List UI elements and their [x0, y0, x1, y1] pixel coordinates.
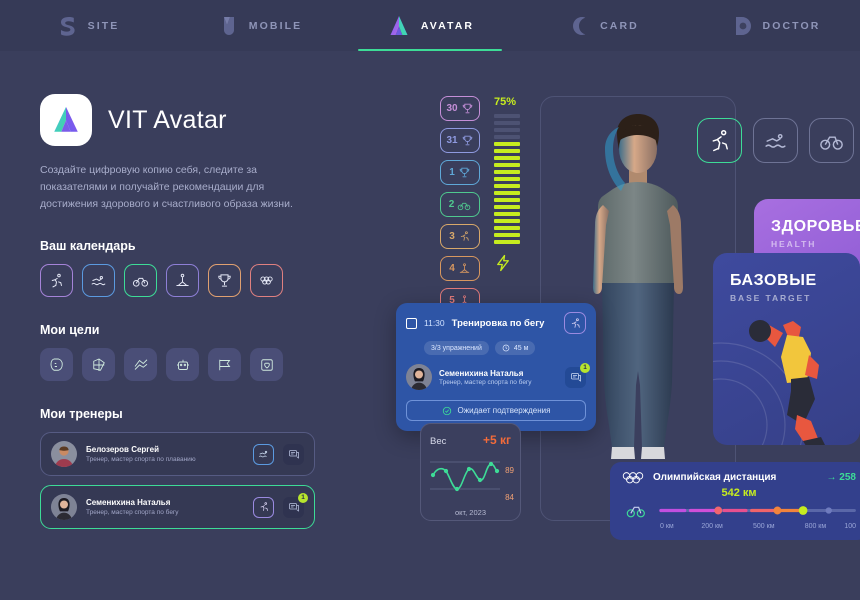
progress-bar-segment: [494, 170, 520, 174]
goal-chip-face[interactable]: [40, 348, 73, 381]
olympic-title: Олимпийская дистанция: [653, 472, 776, 483]
weight-low-value: 84: [505, 493, 514, 502]
message-badge: 1: [298, 493, 308, 503]
check-circle-icon: [442, 406, 452, 416]
popup-trainer-role: Тренер, мастер спорта по бегу: [439, 379, 532, 386]
cycling-icon: [622, 500, 650, 520]
progress-bar-segment: [494, 121, 520, 125]
trainer-info: Белозеров Сергей Тренер, мастер спорта п…: [86, 445, 244, 463]
yoga-icon: [458, 262, 471, 275]
trainers-section-title: Мои тренеры: [40, 407, 315, 421]
progress-bar-segment: [494, 226, 520, 230]
training-popup: 11:30 Тренировка по бегу 3/3 упражнений …: [396, 303, 596, 431]
date-badge[interactable]: 4: [440, 256, 480, 281]
weight-high-value: 89: [505, 466, 514, 475]
swimming-icon: [258, 448, 270, 460]
progress-bar-segment: [494, 240, 520, 244]
left-panel: VIT Avatar Создайте цифровую копию себя,…: [40, 94, 315, 529]
weight-delta: +5 кг: [483, 433, 511, 447]
training-sport-button[interactable]: [564, 312, 586, 334]
goals-icon-row: [40, 348, 315, 381]
weight-card[interactable]: Вес +5 кг 89 84 окт, 2023: [420, 423, 521, 521]
progress-percent: 75%: [494, 96, 528, 108]
olympics-icon: [258, 272, 275, 289]
olympic-more-link[interactable]: → 258: [827, 472, 856, 483]
date-badge[interactable]: 2: [440, 192, 480, 217]
progress-bar-segment: [494, 114, 520, 118]
progress-bar-segment: [494, 128, 520, 132]
progress-bar-segment: [494, 212, 520, 216]
olympic-distance-value: 542 км: [622, 487, 856, 499]
brand-description: Создайте цифровую копию себя, следите за…: [40, 162, 298, 213]
trainer-message-button[interactable]: 1: [283, 497, 304, 518]
trophy-icon: [461, 134, 474, 147]
yoga-icon: [174, 272, 191, 289]
mobile-logo-icon: [214, 13, 240, 39]
goal-robot-icon: [174, 356, 192, 374]
base-target-card[interactable]: БАЗОВЫЕ BASE TARGET: [713, 253, 860, 445]
message-icon: [570, 371, 582, 383]
trophy-icon: [461, 102, 474, 115]
avatar: [51, 441, 77, 467]
avatar-logo-icon: [386, 13, 412, 39]
progress-bar-segment: [494, 219, 520, 223]
goal-chip-heart[interactable]: [250, 348, 283, 381]
olympic-tick: 800 км: [805, 523, 845, 530]
nav-tab-doctor[interactable]: DOCTOR: [688, 0, 860, 51]
progress-bar-segment: [494, 163, 520, 167]
tag-exercises: 3/3 упражнений: [424, 341, 489, 355]
progress-bar-segment: [494, 184, 520, 188]
goals-section-title: Мои цели: [40, 323, 315, 337]
date-badge[interactable]: 31: [440, 128, 480, 153]
date-number: 2: [449, 199, 455, 210]
calendar-chip-olympics[interactable]: [250, 264, 283, 297]
calendar-section-title: Ваш календарь: [40, 239, 315, 253]
date-number: 1: [449, 167, 455, 178]
progress-bar-segment: [494, 191, 520, 195]
nav-tab-site[interactable]: SITE: [0, 0, 172, 51]
app-root: SITE MOBILE: [0, 0, 860, 600]
message-icon: [288, 501, 300, 513]
olympic-distance-card[interactable]: Олимпийская дистанция → 258 542 км 0: [610, 462, 860, 540]
popup-header: 11:30 Тренировка по бегу: [406, 312, 586, 334]
trainer-message-button[interactable]: [283, 444, 304, 465]
lightning-bolt-icon: [494, 252, 512, 274]
health-card-title: ЗДОРОВЬЕ: [771, 218, 860, 236]
calendar-chip-swimming[interactable]: [82, 264, 115, 297]
date-number: 30: [446, 103, 457, 114]
nav-tab-card-label: CARD: [600, 20, 639, 32]
calendar-chip-cycling[interactable]: [124, 264, 157, 297]
date-number: 4: [449, 263, 455, 274]
olympic-tick: 200 км: [701, 523, 753, 530]
progress-meter: 75%: [494, 96, 528, 279]
calendar-chip-running[interactable]: [40, 264, 73, 297]
goal-chip-activity[interactable]: [124, 348, 157, 381]
trainer-sport-button[interactable]: [253, 444, 274, 465]
trainer-name: Семенихина Наталья: [86, 498, 244, 507]
running-icon: [707, 128, 732, 153]
progress-bar-segment: [494, 233, 520, 237]
progress-bar-segment: [494, 177, 520, 181]
running-icon: [569, 317, 582, 330]
nav-tab-doctor-label: DOCTOR: [763, 20, 821, 32]
page-title: VIT Avatar: [108, 106, 227, 135]
trainer-info: Семенихина Наталья Тренер, мастер спорта…: [86, 498, 244, 516]
site-logo-icon: [53, 13, 79, 39]
popup-message-button[interactable]: 1: [565, 367, 586, 388]
nav-tab-avatar-label: AVATAR: [421, 20, 474, 32]
sport-chip-cycling[interactable]: [809, 118, 854, 163]
avatar: [406, 364, 432, 390]
active-tab-underline: [358, 49, 503, 51]
weight-date: окт, 2023: [430, 508, 511, 517]
message-icon: [288, 448, 300, 460]
date-badge-column: 30 31 1 2 3 4 5: [440, 96, 486, 320]
app-logo-tile: [40, 94, 92, 146]
olympic-progress-row: [622, 500, 856, 520]
calendar-chip-yoga[interactable]: [166, 264, 199, 297]
tag-duration-label: 45 м: [514, 345, 529, 352]
trainer-card[interactable]: Белозеров Сергей Тренер, мастер спорта п…: [40, 432, 315, 476]
trainer-role: Тренер, мастер спорта по бегу: [86, 509, 244, 516]
nav-tab-avatar[interactable]: AVATAR: [344, 0, 516, 51]
olympic-progress-bar[interactable]: [659, 505, 856, 516]
swimming-icon: [90, 272, 107, 289]
progress-bar-segment: [494, 135, 520, 139]
goal-flag-icon: [216, 356, 234, 374]
training-title: Тренировка по бегу: [452, 318, 545, 329]
popup-trainer-row: Семенихина Наталья Тренер, мастер спорта…: [406, 364, 586, 390]
olympic-header: Олимпийская дистанция → 258: [622, 471, 856, 484]
date-number: 31: [446, 135, 457, 146]
sport-chip-running[interactable]: [697, 118, 742, 163]
date-badge[interactable]: 30: [440, 96, 480, 121]
trophy-icon: [458, 166, 471, 179]
nav-tab-mobile-label: MOBILE: [249, 20, 302, 32]
progress-bars: [494, 114, 528, 244]
cycling-icon: [132, 272, 149, 289]
weight-header: Вес +5 кг: [430, 433, 511, 447]
tag-duration: 45 м: [495, 341, 536, 355]
date-number: 3: [449, 231, 455, 242]
goal-face-icon: [48, 356, 66, 374]
clock-icon: [502, 344, 510, 352]
health-card-subtitle: HEALTH: [771, 239, 860, 249]
olympic-tick: 100: [844, 523, 856, 530]
goal-heart-icon: [258, 356, 276, 374]
popup-trainer-name: Семенихина Наталья: [439, 369, 532, 378]
sport-toggle-group: [697, 118, 854, 163]
date-badge[interactable]: 3: [440, 224, 480, 249]
olympics-icon: [622, 471, 644, 484]
trophy-icon: [216, 272, 233, 289]
goal-chip-flag[interactable]: [208, 348, 241, 381]
goal-chip-weight[interactable]: [82, 348, 115, 381]
training-checkbox[interactable]: [406, 318, 417, 329]
progress-bar-segment: [494, 198, 520, 202]
cycling-icon: [819, 128, 844, 153]
trainer-sport-button[interactable]: [253, 497, 274, 518]
swimming-icon: [763, 128, 788, 153]
trainer-name: Белозеров Сергей: [86, 445, 244, 454]
progress-bar-segment: [494, 205, 520, 209]
avatar: [51, 494, 77, 520]
doctor-logo-icon: [728, 13, 754, 39]
olympic-tick: 500 км: [753, 523, 805, 530]
nav-tab-card[interactable]: CARD: [516, 0, 688, 51]
training-time: 11:30: [424, 318, 445, 328]
trainer-card[interactable]: Семенихина Наталья Тренер, мастер спорта…: [40, 485, 315, 529]
popup-message-badge: 1: [580, 363, 590, 373]
card-logo-icon: [565, 13, 591, 39]
health-card-header: ЗДОРОВЬЕ HEALTH: [754, 199, 860, 249]
goal-weight-icon: [90, 356, 108, 374]
sport-chip-swimming[interactable]: [753, 118, 798, 163]
popup-tags: 3/3 упражнений 45 м: [424, 341, 586, 355]
cycling-icon: [457, 198, 471, 212]
running-icon: [458, 230, 471, 243]
nav-tab-mobile[interactable]: MOBILE: [172, 0, 344, 51]
progress-bar-segment: [494, 156, 520, 160]
base-illustration: [713, 295, 860, 445]
top-navigation: SITE MOBILE: [0, 0, 860, 51]
progress-bar-segment: [494, 142, 520, 146]
base-card-title: БАЗОВЫЕ: [730, 272, 860, 290]
weight-label: Вес: [430, 436, 446, 447]
olympic-tick: 0 км: [660, 523, 701, 530]
confirmation-status-label: Ожидает подтверждения: [458, 406, 551, 415]
progress-bar-segment: [494, 149, 520, 153]
date-badge[interactable]: 1: [440, 160, 480, 185]
olympic-scale: 0 км 200 км 500 км 800 км 100: [660, 523, 856, 530]
nav-tab-site-label: SITE: [88, 20, 120, 32]
calendar-icon-row: [40, 264, 315, 297]
trainer-role: Тренер, мастер спорта по плаванию: [86, 456, 244, 463]
goal-chip-robot[interactable]: [166, 348, 199, 381]
popup-trainer-info: Семенихина Наталья Тренер, мастер спорта…: [439, 369, 532, 386]
running-icon: [258, 501, 270, 513]
confirmation-status-button[interactable]: Ожидает подтверждения: [406, 400, 586, 421]
avatar: [51, 441, 77, 467]
avatar: [51, 494, 77, 520]
goal-activity-icon: [132, 356, 150, 374]
weight-chart: [430, 451, 514, 501]
calendar-chip-trophy[interactable]: [208, 264, 241, 297]
avatar-logo-icon: [49, 103, 83, 137]
running-icon: [48, 272, 65, 289]
avatar: [406, 364, 432, 390]
brand-row: VIT Avatar: [40, 94, 315, 146]
